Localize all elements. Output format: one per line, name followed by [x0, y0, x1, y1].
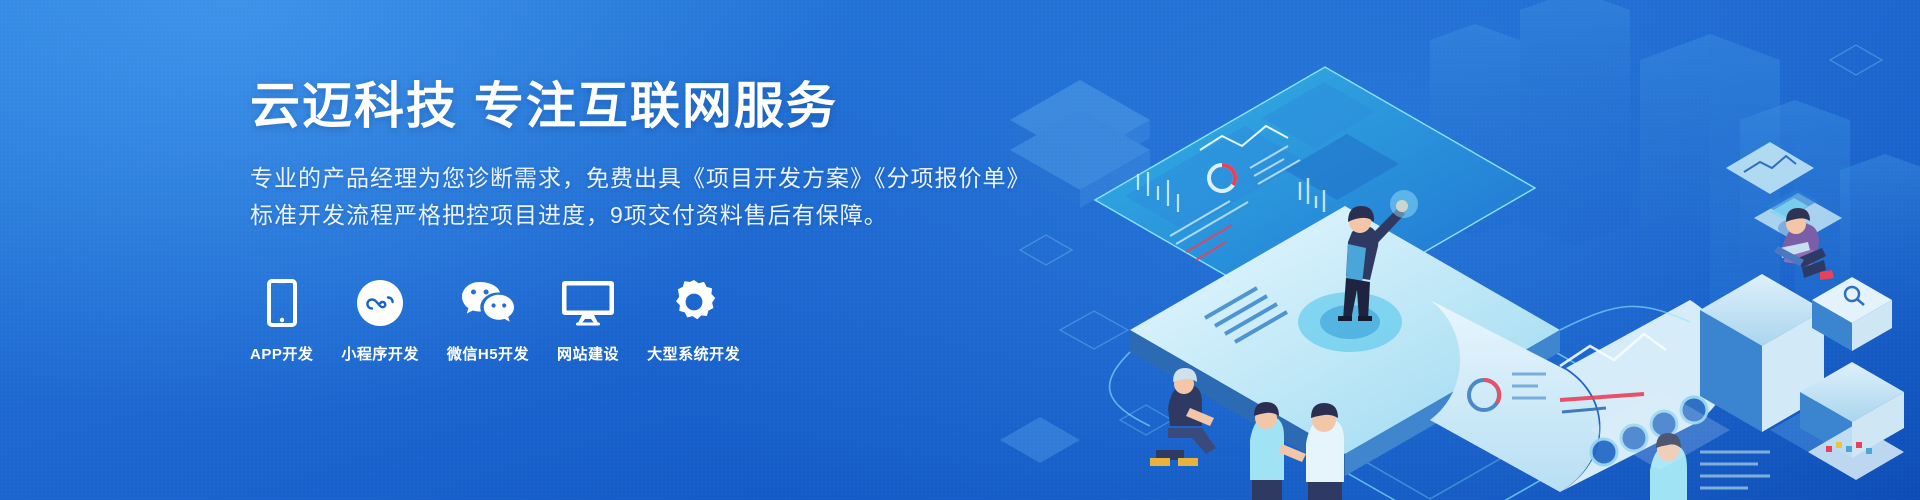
page-title: 云迈科技 专注互联网服务: [250, 78, 1080, 134]
service-item-app[interactable]: APP开发: [250, 277, 313, 364]
mobile-phone-icon: [250, 277, 313, 329]
service-item-website[interactable]: 网站建设: [557, 277, 619, 364]
service-label-app: APP开发: [250, 343, 313, 364]
illustration-container: [1000, 0, 1920, 500]
service-label-website: 网站建设: [557, 343, 619, 364]
hero-banner: 云迈科技 专注互联网服务 专业的产品经理为您诊断需求，免费出具《项目开发方案》《…: [0, 0, 1920, 500]
service-item-miniprogram[interactable]: 小程序开发: [341, 277, 419, 364]
mini-program-icon: [341, 277, 419, 329]
service-item-wechat[interactable]: 微信H5开发: [447, 277, 529, 364]
banner-copy: 云迈科技 专注互联网服务 专业的产品经理为您诊断需求，免费出具《项目开发方案》《…: [250, 78, 1080, 364]
service-item-system[interactable]: 大型系统开发: [647, 277, 740, 364]
service-label-miniprogram: 小程序开发: [341, 343, 419, 364]
wechat-icon: [447, 277, 529, 329]
service-label-system: 大型系统开发: [647, 343, 740, 364]
isometric-data-dashboard-illustration: [1000, 0, 1920, 500]
monitor-icon: [557, 277, 619, 329]
service-list: APP开发 小程序开发: [250, 277, 1080, 364]
gear-icon: [647, 277, 740, 329]
subtitle-line-2: 标准开发流程严格把控项目进度，9项交付资料售后有保障。: [250, 197, 1080, 234]
service-label-wechat: 微信H5开发: [447, 343, 529, 364]
banner-subtitle: 专业的产品经理为您诊断需求，免费出具《项目开发方案》《分项报价单》 标准开发流程…: [250, 160, 1080, 235]
subtitle-line-1: 专业的产品经理为您诊断需求，免费出具《项目开发方案》《分项报价单》: [250, 160, 1080, 197]
